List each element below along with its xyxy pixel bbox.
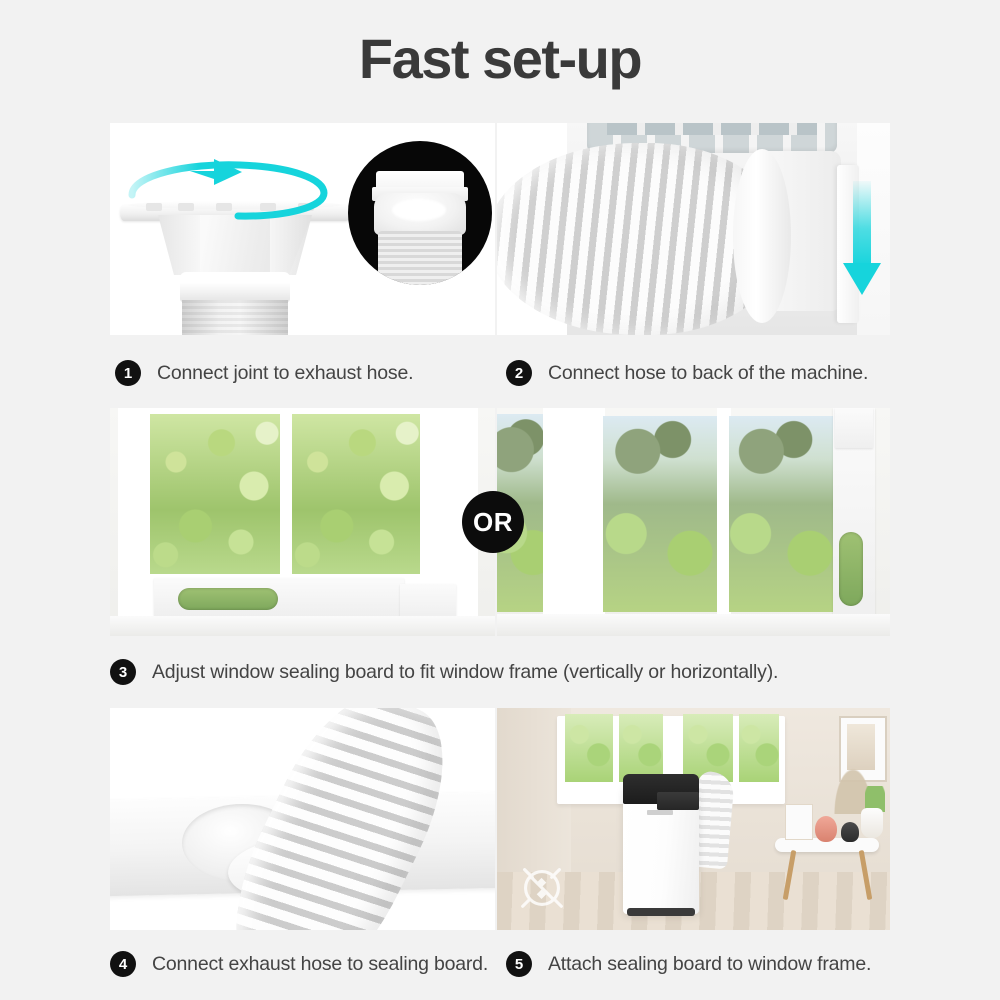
step-1-badge: 1 bbox=[115, 360, 141, 386]
step-5-badge: 5 bbox=[506, 951, 532, 977]
fast-setup-infographic: Fast set-up bbox=[0, 0, 1000, 1000]
window-mullion bbox=[280, 408, 292, 580]
window-glass-center bbox=[603, 416, 719, 612]
step-4-badge: 4 bbox=[110, 951, 136, 977]
step-3-image-vertical-window bbox=[497, 408, 890, 636]
step-2-image-hose-to-machine bbox=[497, 123, 890, 335]
step-2-number: 2 bbox=[515, 365, 523, 382]
step-5-text: Attach sealing board to window frame. bbox=[548, 953, 871, 976]
step-5-image-room-installed bbox=[497, 708, 890, 930]
sealing-board-port-vertical bbox=[839, 532, 863, 606]
page-title: Fast set-up bbox=[0, 28, 1000, 90]
or-badge: OR bbox=[462, 491, 524, 553]
step-5-number: 5 bbox=[515, 956, 523, 973]
rotate-arrow-icon bbox=[110, 153, 360, 223]
step-4-text: Connect exhaust hose to sealing board. bbox=[152, 953, 488, 976]
step-4-caption: 4 Connect exhaust hose to sealing board. bbox=[110, 951, 488, 977]
exhaust-joint-illustration bbox=[120, 153, 350, 335]
table-photo-frame bbox=[785, 804, 813, 840]
vase-pink bbox=[815, 816, 837, 842]
window-post-1 bbox=[543, 408, 583, 622]
sealing-board-extension bbox=[400, 584, 456, 618]
window-glass-left bbox=[150, 414, 280, 574]
down-arrow-icon bbox=[841, 181, 883, 301]
step-4-image-hose-to-board bbox=[110, 708, 495, 930]
step-1-image-joint-rotation bbox=[110, 123, 495, 335]
inset-highlight bbox=[392, 199, 446, 221]
step-1-text: Connect joint to exhaust hose. bbox=[157, 362, 413, 385]
step-3-number: 3 bbox=[119, 664, 127, 681]
step-2-badge: 2 bbox=[506, 360, 532, 386]
step-5-caption: 5 Attach sealing board to window frame. bbox=[506, 951, 871, 977]
or-badge-label: OR bbox=[473, 507, 513, 538]
room-window-glass-1 bbox=[565, 714, 613, 782]
joint-closeup-inset bbox=[348, 141, 492, 285]
room-window-glass-2 bbox=[619, 714, 663, 782]
step-1-caption: 1 Connect joint to exhaust hose. bbox=[115, 360, 413, 386]
window-post-2 bbox=[581, 408, 605, 622]
step-1-number: 1 bbox=[124, 365, 132, 382]
step-3-text: Adjust window sealing board to fit windo… bbox=[152, 661, 778, 684]
joint-cone-shade-left bbox=[158, 215, 200, 275]
exhaust-hose-end-connector bbox=[733, 149, 791, 323]
window-sill bbox=[110, 616, 495, 636]
air-conditioner-logo bbox=[647, 810, 673, 815]
sealing-board-vertical-upper bbox=[835, 408, 873, 448]
window-sill-bottom bbox=[497, 614, 890, 636]
vase-white bbox=[861, 808, 883, 838]
wall-art-image bbox=[847, 724, 875, 770]
air-conditioner-casters bbox=[627, 908, 695, 916]
step-2-caption: 2 Connect hose to back of the machine. bbox=[506, 360, 868, 386]
step-3-caption: 3 Adjust window sealing board to fit win… bbox=[110, 659, 778, 685]
air-conditioner-grille-inner bbox=[607, 123, 817, 135]
vase-dark bbox=[841, 822, 859, 842]
sealing-board-port-horizontal bbox=[178, 588, 278, 610]
joint-cone-shade-right bbox=[270, 215, 312, 275]
step-4-number: 4 bbox=[119, 956, 127, 973]
window-glass-right-v bbox=[729, 416, 837, 612]
inset-hose bbox=[378, 231, 462, 285]
air-conditioner-control-panel bbox=[657, 792, 699, 810]
no-tools-icon bbox=[513, 858, 571, 916]
window-glass-right bbox=[292, 414, 420, 574]
joint-hose-stub bbox=[182, 300, 288, 335]
step-2-text: Connect hose to back of the machine. bbox=[548, 362, 868, 385]
joint-collar bbox=[180, 272, 290, 302]
step-3-image-horizontal-window bbox=[110, 408, 495, 636]
room-window-glass-4 bbox=[739, 714, 779, 782]
step-3-badge: 3 bbox=[110, 659, 136, 685]
